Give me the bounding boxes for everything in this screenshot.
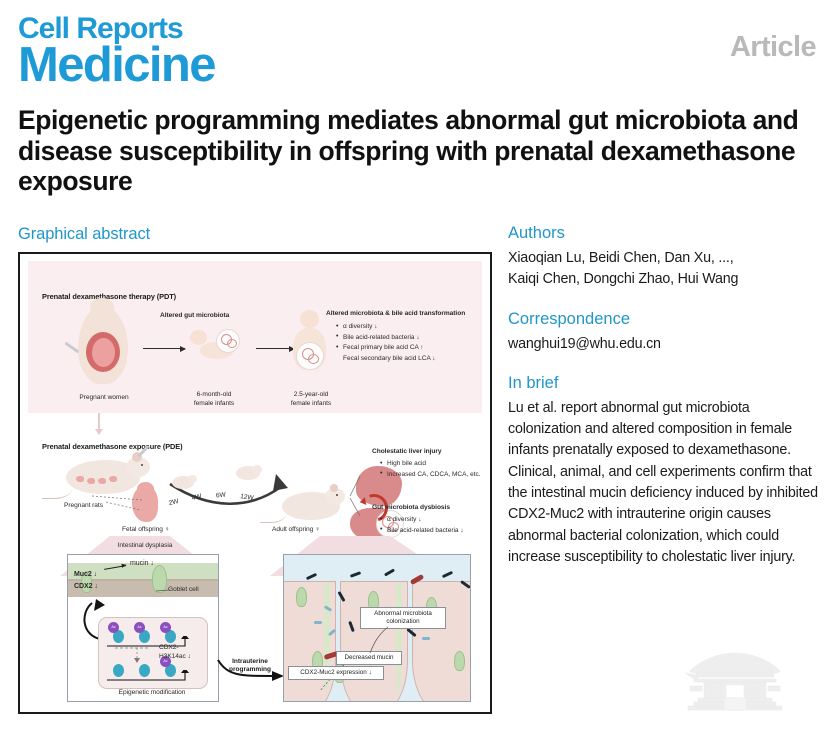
pdt-finding-2: Fecal primary bile acid CA ↑ [334, 343, 436, 354]
in-brief-heading: In brief [508, 374, 818, 393]
pdt-findings-list: α diversity ↓ Bile acid-related bacteria… [334, 322, 436, 364]
infant-6month-caption-line2: female infants [178, 400, 250, 409]
ac-tag-2: Ac [134, 622, 145, 633]
authors-heading: Authors [508, 224, 818, 243]
infant-25year-caption-line2: female infants [274, 400, 348, 409]
cdx2-h3k14ac-line2: H3K14ac ↓ [159, 653, 191, 662]
ac-tag-1: Ac [108, 622, 119, 633]
pdt-finding-1: Bile acid-related bacteria ↓ [334, 333, 436, 344]
pregnant-women-caption: Pregnant women [69, 394, 139, 403]
pdt-to-pde-arrow [98, 413, 100, 429]
dysbiosis-finding-1: Bile acid-related bacteria ↓ [378, 526, 464, 537]
epigenetic-modification-box: Ac Ac Ac Ac [98, 617, 208, 689]
cdx2-h3k14ac-line1: CDX2- [159, 644, 179, 653]
pdt-arrow-2 [256, 348, 294, 349]
intestinal-dysplasia-title: Intestinal dysplasia [90, 542, 200, 551]
timeline-label-12w: 12W [239, 493, 253, 503]
article-meta-column: Authors Xiaoqian Lu, Beidi Chen, Dan Xu,… [508, 224, 818, 568]
article-type-kicker: Article [730, 31, 816, 64]
dysbiosis-list: α diversity ↓ Bile acid-related bacteria… [378, 515, 464, 536]
in-brief-block: In brief Lu et al. report abnormal gut m… [508, 374, 818, 568]
liver-finding-1: Increased CA, CDCA, MCA, etc. [378, 470, 481, 481]
article-page: Cell Reports Medicine Article Epigenetic… [0, 0, 836, 733]
altered-gut-microbiota-label: Altered gut microbiota [160, 312, 229, 321]
liver-findings-title: Cholestatic liver injury [372, 448, 442, 457]
correspondence-heading: Correspondence [508, 310, 818, 329]
intrauterine-programming-arrow [216, 654, 288, 688]
authors-line-1: Xiaoqian Lu, Beidi Chen, Dan Xu, ..., [508, 248, 818, 269]
liver-findings-list: High bile acid Increased CA, CDCA, MCA, … [378, 459, 481, 480]
liver-finding-0: High bile acid [378, 459, 481, 470]
infant-25year-caption-line1: 2.5-year-old [274, 391, 348, 400]
intestinal-dysplasia-box: mucin ↓ Muc2 ↓ CDX2 ↓ Goblet cell [67, 554, 219, 702]
journal-masthead: Cell Reports Medicine [18, 14, 215, 90]
callout-cdx2-muc2-expression: CDX2-Muc2 expression ↓ [288, 666, 384, 680]
epigenetic-modification-caption: Epigenetic modification [94, 689, 210, 698]
ac-tag-3: Ac [160, 622, 171, 633]
institution-watermark [660, 639, 810, 717]
graphical-abstract-heading: Graphical abstract [18, 225, 150, 244]
correspondence-email[interactable]: wanghui19@whu.edu.cn [508, 334, 818, 355]
dysbiosis-finding-0: α diversity ↓ [378, 515, 464, 526]
correspondence-block: Correspondence wanghui19@whu.edu.cn [508, 310, 818, 355]
pdt-finding-3: Fecal secondary bile acid LCA ↓ [334, 354, 436, 365]
dysbiosis-title: Gut microbiota dysbiosis [372, 504, 450, 513]
authors-line-2: Kaiqi Chen, Dongchi Zhao, Hui Wang [508, 269, 818, 290]
infant-6month-caption-line1: 6-month-old [178, 391, 250, 400]
muc2-label: Muc2 ↓ [74, 571, 97, 580]
pdt-arrow-1 [143, 348, 185, 349]
pdt-findings-title: Altered microbiota & bile acid transform… [326, 310, 465, 319]
journal-name-line2: Medicine [18, 41, 215, 90]
pdt-finding-0: α diversity ↓ [334, 322, 436, 333]
mucin-label: mucin ↓ [130, 560, 154, 569]
timeline-label-6w: 6W [216, 492, 227, 502]
graphical-abstract-figure: Prenatal dexamethasone therapy (PDT) Pre… [18, 252, 492, 714]
adult-offspring-caption: Adult offspring ♀ [272, 526, 320, 535]
authors-block: Authors Xiaoqian Lu, Beidi Chen, Dan Xu,… [508, 224, 818, 291]
in-brief-text: Lu et al. report abnormal gut microbiota… [508, 398, 818, 568]
page-title: Epigenetic programming mediates abnormal… [18, 105, 818, 197]
